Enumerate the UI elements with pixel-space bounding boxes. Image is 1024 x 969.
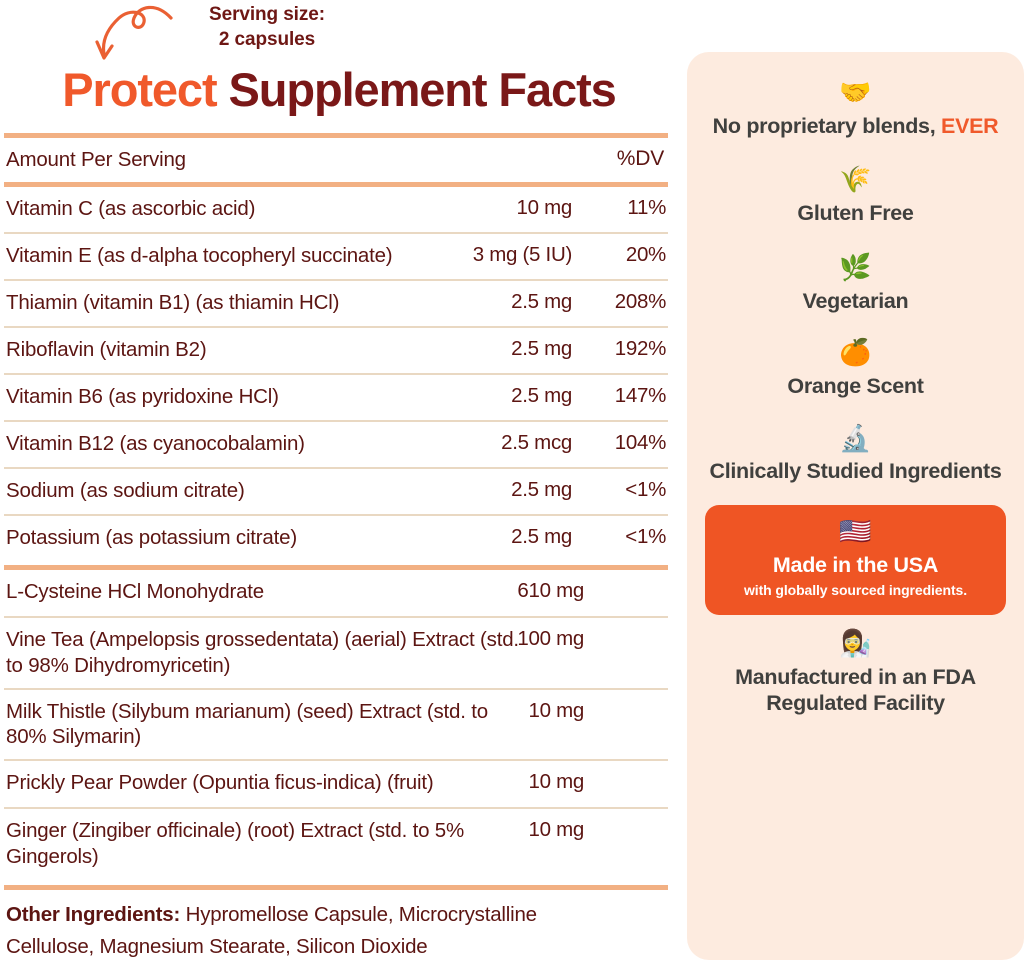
badge-sublabel: with globally sourced ingredients. xyxy=(719,581,992,599)
title-highlight: Protect xyxy=(62,63,216,116)
nutrient-amount: 3 mg (5 IU) xyxy=(342,243,572,267)
supplement-facts-panel: Serving size: 2 capsules Protect Supplem… xyxy=(0,0,672,969)
table-row: Vitamin C (as ascorbic acid)10 mg11% xyxy=(0,187,672,232)
badge-label: No proprietary blends, EVER xyxy=(705,113,1006,140)
badge-gluten: 🌾Gluten Free xyxy=(705,165,1006,226)
serving-size-callout: Serving size: 2 capsules xyxy=(172,2,362,53)
badge-blends: 🤝No proprietary blends, EVER xyxy=(705,78,1006,139)
badge-orange: 🍊Orange Scent xyxy=(705,338,1006,399)
badge-veg: 🌿Vegetarian xyxy=(705,253,1006,314)
badge-label: Manufactured in an FDA Regulated Facilit… xyxy=(705,664,1006,718)
other-ingredients-label: Other Ingredients: xyxy=(6,903,180,926)
table-row: Potassium (as potassium citrate)2.5 mg<1… xyxy=(0,516,672,561)
supplement-facts-page: Serving size: 2 capsules Protect Supplem… xyxy=(0,0,1024,969)
badge-fda-facility: 👩‍🔬Manufactured in an FDA Regulated Faci… xyxy=(705,629,1006,717)
nutrient-amount: 2.5 mg xyxy=(342,384,572,408)
nutrient-dv: 11% xyxy=(582,196,666,220)
badge-label: Gluten Free xyxy=(705,200,1006,227)
table-row: Vitamin B6 (as pyridoxine HCl)2.5 mg147% xyxy=(0,375,672,420)
table-row: Vitamin E (as d-alpha tocopheryl succina… xyxy=(0,234,672,279)
badge-label: Made in the USA xyxy=(719,552,992,579)
scientist-icon: 👩‍🔬 xyxy=(705,629,1006,658)
badge-label: Orange Scent xyxy=(705,373,1006,400)
nutrient-dv: <1% xyxy=(582,478,666,502)
ingredient-amount: 10 mg xyxy=(404,770,584,794)
nutrient-dv: <1% xyxy=(582,525,666,549)
nutrient-dv: 147% xyxy=(582,384,666,408)
page-title: Protect Supplement Facts xyxy=(6,66,672,113)
badge-clinical: 🔬Clinically Studied Ingredients xyxy=(705,424,1006,485)
nutrient-amount: 10 mg xyxy=(342,196,572,220)
nutrient-dv: 104% xyxy=(582,431,666,455)
table-row: Vitamin B12 (as cyanocobalamin)2.5 mcg10… xyxy=(0,422,672,467)
tangerine-icon: 🍊 xyxy=(705,338,1006,367)
table-header-row: Amount Per Serving%DV xyxy=(0,138,672,182)
table-row: L-Cysteine HCl Monohydrate610 mg xyxy=(0,570,672,616)
ingredient-amount: 100 mg xyxy=(404,627,584,651)
amount-per-serving-label: Amount Per Serving xyxy=(6,147,664,173)
product-badges-panel: 🤝No proprietary blends, EVER🌾Gluten Free… xyxy=(687,52,1024,960)
nutrient-dv: 192% xyxy=(582,337,666,361)
ingredient-amount: 10 mg xyxy=(404,699,584,723)
herb-leaf-icon: 🌿 xyxy=(705,253,1006,282)
nutrient-amount: 2.5 mg xyxy=(342,337,572,361)
wheat-icon: 🌾 xyxy=(705,165,1006,194)
nutrient-amount: 2.5 mg xyxy=(342,478,572,502)
table-row: Thiamin (vitamin B1) (as thiamin HCl)2.5… xyxy=(0,281,672,326)
badge-label: Clinically Studied Ingredients xyxy=(705,458,1006,485)
ingredient-amount: 10 mg xyxy=(404,818,584,842)
percent-dv-label: %DV xyxy=(617,147,664,171)
table-row: Riboflavin (vitamin B2)2.5 mg192% xyxy=(0,328,672,373)
ingredient-amount: 610 mg xyxy=(404,579,584,603)
nutrient-amount: 2.5 mg xyxy=(342,525,572,549)
table-row: Ginger (Zingiber officinale) (root) Extr… xyxy=(0,809,672,879)
supplement-facts-table: Amount Per Serving%DVVitamin C (as ascor… xyxy=(0,133,672,890)
other-ingredients: Other Ingredients: Hypromellose Capsule,… xyxy=(6,899,626,963)
table-row: Vine Tea (Ampelopsis grossedentata) (aer… xyxy=(0,618,672,688)
badge-made-in-usa[interactable]: 🇺🇸Made in the USAwith globally sourced i… xyxy=(705,505,1006,615)
table-row: Prickly Pear Powder (Opuntia ficus-indic… xyxy=(0,761,672,807)
nutrient-amount: 2.5 mg xyxy=(342,290,572,314)
nutrient-dv: 208% xyxy=(582,290,666,314)
handshake-icon: 🤝 xyxy=(705,78,1006,107)
table-row: Milk Thistle (Silybum marianum) (seed) E… xyxy=(0,690,672,760)
us-flag-icon: 🇺🇸 xyxy=(719,517,992,546)
table-row: Sodium (as sodium citrate)2.5 mg<1% xyxy=(0,469,672,514)
serving-size-line2: 2 capsules xyxy=(172,27,362,52)
serving-size-line1: Serving size: xyxy=(172,2,362,27)
microscope-icon: 🔬 xyxy=(705,424,1006,453)
nutrient-dv: 20% xyxy=(582,243,666,267)
badge-label: Vegetarian xyxy=(705,288,1006,315)
title-rest: Supplement Facts xyxy=(217,63,616,116)
nutrient-amount: 2.5 mcg xyxy=(342,431,572,455)
